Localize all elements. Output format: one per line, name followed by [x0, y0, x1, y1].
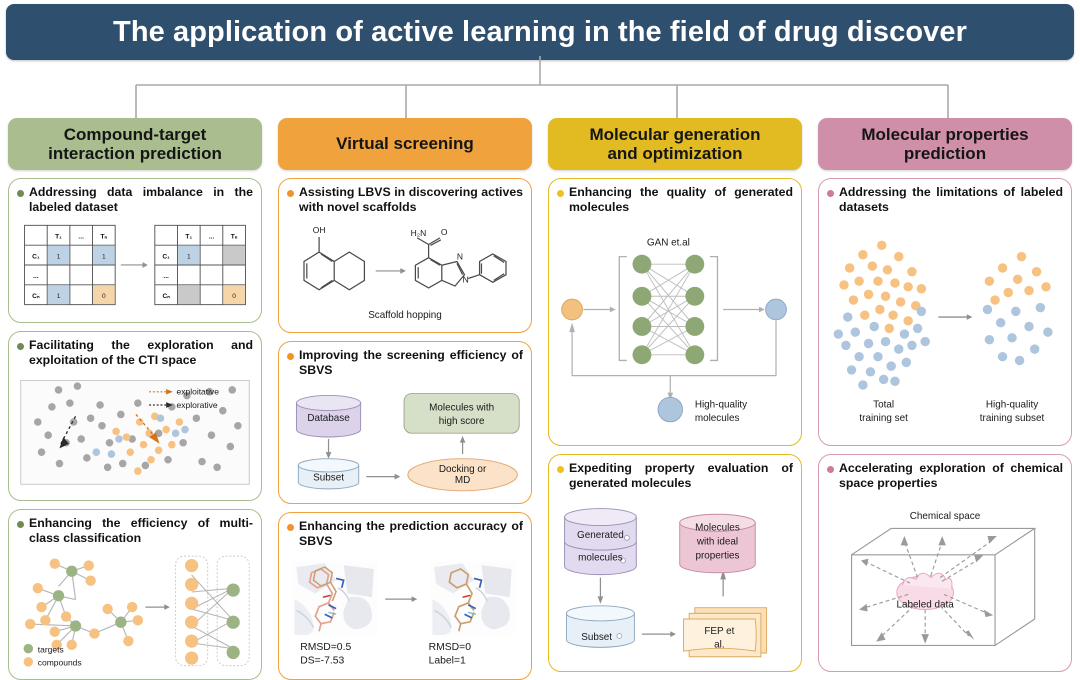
svg-text:al.: al.	[714, 640, 724, 651]
bullet-dot-icon	[17, 521, 24, 528]
caption-total-line2: training set	[859, 413, 908, 424]
bullet-dot-icon	[17, 190, 24, 197]
card-title-text: Enhancing the quality of generated molec…	[569, 185, 793, 215]
bullet-dot-icon	[287, 190, 294, 197]
header-line-2: and optimization	[607, 144, 742, 163]
connector-lines	[0, 56, 1080, 126]
svg-text:Generated: Generated	[577, 530, 624, 541]
bullet-dot-icon	[557, 466, 564, 473]
cards-molecular-properties: Addressing the limitations of labeled da…	[818, 178, 1072, 672]
label-rmsd-right: RMSD=0	[429, 642, 472, 653]
card-title-text: Facilitating the exploration and exploit…	[29, 338, 253, 368]
legend-exploitative: exploitative	[177, 387, 220, 397]
card-sbvs-efficiency: Improving the screening efficiency of SB…	[278, 341, 532, 504]
caption-subset-line1: High-quality	[986, 400, 1038, 411]
art-point-clouds: Total training set High-quality training…	[827, 217, 1063, 440]
svg-text:N: N	[457, 252, 463, 262]
card-title-row: Addressing data imbalance in the labeled…	[17, 185, 253, 215]
svg-text:1: 1	[57, 254, 61, 261]
svg-text:Cₙ: Cₙ	[32, 293, 40, 300]
art-scaffold-hopping: OH	[287, 217, 523, 327]
card-title-row: Enhancing the quality of generated molec…	[557, 185, 793, 215]
legend-explorative: explorative	[177, 400, 218, 410]
page-title: The application of active learning in th…	[113, 16, 967, 49]
card-title-row: Facilitating the exploration and exploit…	[17, 338, 253, 368]
art-docking-poses: RMSD=0.5 DS=-7.53 RMSD=0 Label=1	[287, 551, 523, 674]
svg-text:0: 0	[232, 293, 236, 300]
svg-text:MD: MD	[455, 475, 470, 486]
column-molecular-generation: Molecular generation and optimization En…	[540, 118, 810, 666]
header-line-1: Virtual screening	[336, 134, 474, 153]
label-class-right: Label=1	[429, 656, 466, 667]
card-data-imbalance: Addressing data imbalance in the labeled…	[8, 178, 262, 323]
card-title-text: Enhancing the efficiency of multi-class …	[29, 516, 253, 546]
art-graph-network: targets compounds	[17, 548, 253, 674]
card-title-text: Expediting property evaluation of genera…	[569, 461, 793, 491]
card-cti-space: Facilitating the exploration and exploit…	[8, 331, 262, 501]
svg-text:T₁: T₁	[55, 234, 62, 241]
column-molecular-properties: Molecular properties prediction Addressi…	[810, 118, 1080, 666]
card-multi-class: Enhancing the efficiency of multi-class …	[8, 509, 262, 680]
node-database: Database	[307, 413, 350, 424]
card-title-text: Accelerating exploration of chemical spa…	[839, 461, 1063, 491]
card-title-text: Assisting LBVS in discovering actives wi…	[299, 185, 523, 215]
header-line-2: prediction	[904, 144, 986, 163]
svg-text:1: 1	[187, 254, 191, 261]
svg-text:Tₙ: Tₙ	[101, 234, 108, 241]
caption-total-line1: Total	[873, 400, 894, 411]
card-title-row: Accelerating exploration of chemical spa…	[827, 461, 1063, 491]
column-header-compound-target: Compound-target interaction prediction	[8, 118, 262, 170]
svg-text:C₁: C₁	[32, 254, 40, 261]
svg-text:Cₙ: Cₙ	[162, 293, 170, 300]
bullet-dot-icon	[557, 190, 564, 197]
art-gan-network: GAN et.al	[557, 217, 793, 440]
label-ds-left: DS=-7.53	[300, 656, 344, 667]
svg-text:Tₙ: Tₙ	[231, 234, 238, 241]
legend-compounds: compounds	[38, 658, 82, 668]
svg-text:FEP et: FEP et	[704, 626, 734, 637]
columns-container: Compound-target interaction prediction A…	[0, 118, 1080, 666]
caption-scaffold-hopping: Scaffold hopping	[368, 310, 442, 321]
svg-text:molecules: molecules	[578, 553, 623, 564]
svg-text:...: ...	[209, 234, 215, 241]
card-title-row: Assisting LBVS in discovering actives wi…	[287, 185, 523, 215]
node-subset: Subset	[313, 473, 344, 484]
svg-text:H₂N: H₂N	[411, 228, 427, 238]
cards-virtual-screening: Assisting LBVS in discovering actives wi…	[278, 178, 532, 680]
card-title-text: Enhancing the prediction accuracy of SBV…	[299, 519, 523, 549]
svg-text:...: ...	[78, 234, 84, 241]
label-output-line2: molecules	[695, 413, 740, 424]
svg-text:with ideal: with ideal	[696, 537, 738, 548]
svg-text:0: 0	[102, 293, 106, 300]
header-line-2: interaction prediction	[48, 144, 222, 163]
bullet-dot-icon	[287, 353, 294, 360]
svg-text:N: N	[463, 275, 469, 285]
svg-text:high score: high score	[439, 416, 485, 427]
node-subset: Subset	[581, 632, 612, 643]
cards-compound-target: Addressing data imbalance in the labeled…	[8, 178, 262, 680]
svg-text:OH: OH	[313, 225, 326, 235]
bullet-dot-icon	[827, 190, 834, 197]
header-line-1: Molecular generation	[590, 125, 761, 144]
card-title-row: Enhancing the efficiency of multi-class …	[17, 516, 253, 546]
header-line-1: Molecular properties	[861, 125, 1028, 144]
card-title-row: Improving the screening efficiency of SB…	[287, 348, 523, 378]
svg-text:Molecules: Molecules	[695, 523, 740, 534]
svg-text:C₁: C₁	[162, 254, 170, 261]
art-fep-flow: Generated molecules	[557, 493, 793, 666]
column-header-molecular-generation: Molecular generation and optimization	[548, 118, 802, 170]
svg-text:T₁: T₁	[185, 234, 192, 241]
column-compound-target: Compound-target interaction prediction A…	[0, 118, 270, 666]
label-chemical-space: Chemical space	[910, 511, 981, 522]
card-title-text: Addressing data imbalance in the labeled…	[29, 185, 253, 215]
bullet-dot-icon	[827, 466, 834, 473]
label-rmsd-left: RMSD=0.5	[300, 642, 351, 653]
label-labeled-data: Labeled data	[897, 600, 955, 611]
column-virtual-screening: Virtual screening Assisting LBVS in disc…	[270, 118, 540, 666]
card-labeled-limitations: Addressing the limitations of labeled da…	[818, 178, 1072, 446]
card-generated-quality: Enhancing the quality of generated molec…	[548, 178, 802, 446]
figure-title-bar: The application of active learning in th…	[6, 4, 1074, 60]
card-lbvs-scaffold: Assisting LBVS in discovering actives wi…	[278, 178, 532, 333]
svg-text:...: ...	[163, 273, 169, 280]
card-title-text: Addressing the limitations of labeled da…	[839, 185, 1063, 215]
svg-text:Molecules with: Molecules with	[429, 403, 494, 414]
art-chemical-space-cube: Chemical space Labeled data	[827, 493, 1063, 666]
card-chemical-space: Accelerating exploration of chemical spa…	[818, 454, 1072, 672]
label-gan: GAN et.al	[647, 238, 690, 249]
card-title-row: Addressing the limitations of labeled da…	[827, 185, 1063, 215]
art-matrix-pair: T₁ ... Tₙ C₁ ... Cₙ 1 1 1 0	[17, 217, 253, 317]
svg-text:1: 1	[57, 293, 61, 300]
card-property-evaluation: Expediting property evaluation of genera…	[548, 454, 802, 672]
art-sbvs-flow: Database Subset	[287, 380, 523, 498]
legend-targets: targets	[38, 645, 64, 655]
bullet-dot-icon	[287, 524, 294, 531]
label-output-line1: High-quality	[695, 400, 747, 411]
card-title-row: Enhancing the prediction accuracy of SBV…	[287, 519, 523, 549]
card-title-row: Expediting property evaluation of genera…	[557, 461, 793, 491]
card-sbvs-accuracy: Enhancing the prediction accuracy of SBV…	[278, 512, 532, 680]
svg-text:properties: properties	[695, 551, 739, 562]
svg-text:Docking or: Docking or	[439, 464, 487, 475]
column-header-virtual-screening: Virtual screening	[278, 118, 532, 170]
art-scatter-arrows: exploitative explorative	[17, 370, 253, 495]
cards-molecular-generation: Enhancing the quality of generated molec…	[548, 178, 802, 672]
header-line-1: Compound-target	[64, 125, 207, 144]
caption-subset-line2: training subset	[980, 413, 1045, 424]
svg-text:1: 1	[102, 254, 106, 261]
column-header-molecular-properties: Molecular properties prediction	[818, 118, 1072, 170]
svg-text:O: O	[441, 227, 448, 237]
bullet-dot-icon	[17, 343, 24, 350]
card-title-text: Improving the screening efficiency of SB…	[299, 348, 523, 378]
svg-text:...: ...	[33, 273, 39, 280]
